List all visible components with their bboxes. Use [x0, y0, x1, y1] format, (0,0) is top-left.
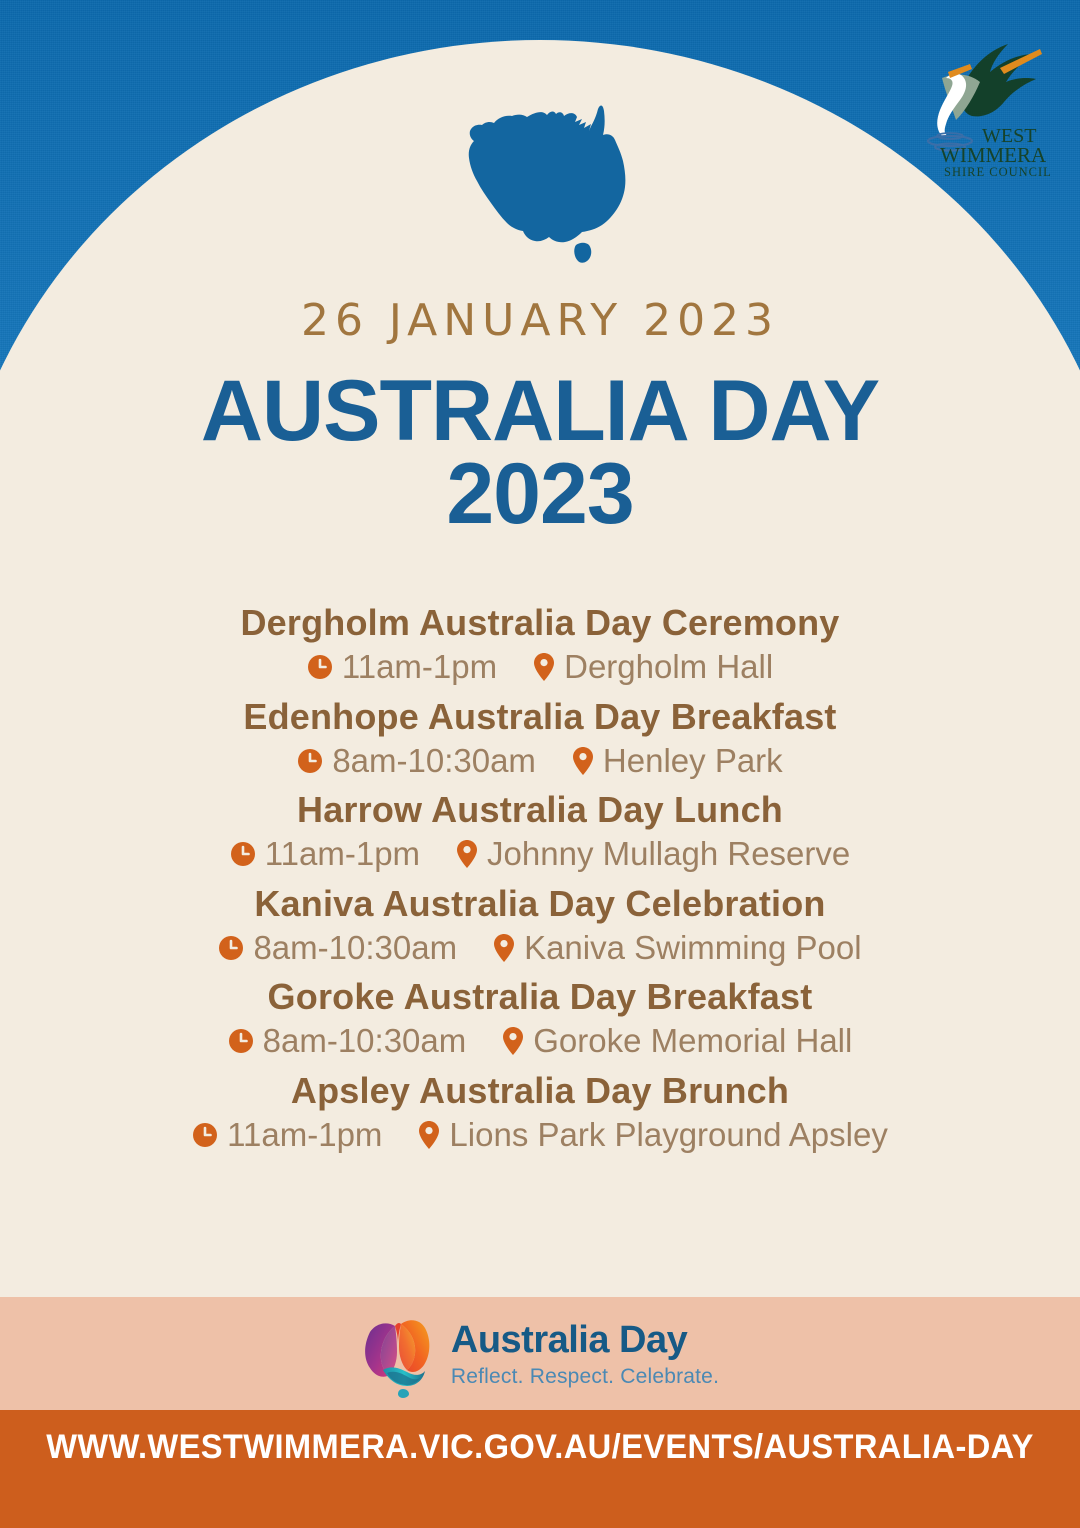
- page-title-line1: AUSTRALIA DAY: [201, 363, 879, 459]
- map-pin-icon: [418, 1120, 440, 1150]
- west-wimmera-shire-council-logo: WEST WIMMERA SHIRE COUNCIL: [912, 24, 1062, 184]
- clock-icon: [218, 935, 244, 961]
- event-location-group: Johnny Mullagh Reserve: [456, 832, 850, 877]
- event-time-group: 11am-1pm: [307, 645, 497, 690]
- australia-day-ribbon-logo: [361, 1310, 435, 1398]
- page-title-line2: 2023: [0, 453, 1080, 536]
- australia-mainland-shape: [469, 105, 626, 242]
- australia-map-icon: [455, 95, 645, 275]
- australia-day-logo-name: Australia Day: [451, 1321, 719, 1359]
- event-location: Lions Park Playground Apsley: [449, 1113, 887, 1158]
- logo-tasmania-droplet: [398, 1389, 409, 1398]
- event-detail: 8am-10:30amGoroke Memorial Hall: [0, 1019, 1080, 1064]
- event-item: Harrow Australia Day Lunch11am-1pmJohnny…: [0, 787, 1080, 877]
- event-detail: 11am-1pmDergholm Hall: [0, 645, 1080, 690]
- event-item: Apsley Australia Day Brunch11am-1pmLions…: [0, 1068, 1080, 1158]
- clock-icon: [192, 1122, 218, 1148]
- website-url-bar[interactable]: WWW.WESTWIMMERA.VIC.GOV.AU/EVENTS/AUSTRA…: [0, 1410, 1080, 1528]
- event-time: 8am-10:30am: [263, 1019, 467, 1064]
- clock-icon: [230, 841, 256, 867]
- event-location: Kaniva Swimming Pool: [524, 926, 861, 971]
- website-url[interactable]: WWW.WESTWIMMERA.VIC.GOV.AU/EVENTS/AUSTRA…: [22, 1428, 1059, 1467]
- event-time: 8am-10:30am: [332, 739, 536, 784]
- events-list: Dergholm Australia Day Ceremony11am-1pmD…: [0, 600, 1080, 1161]
- event-location-group: Henley Park: [572, 739, 783, 784]
- event-time: 11am-1pm: [265, 832, 420, 877]
- event-item: Dergholm Australia Day Ceremony11am-1pmD…: [0, 600, 1080, 690]
- event-detail: 8am-10:30amHenley Park: [0, 739, 1080, 784]
- tasmania-shape: [574, 243, 591, 263]
- event-time-group: 8am-10:30am: [297, 739, 536, 784]
- event-time: 11am-1pm: [227, 1113, 382, 1158]
- event-date: 26 JANUARY 2023: [0, 295, 1080, 346]
- event-location-group: Kaniva Swimming Pool: [493, 926, 861, 971]
- event-location: Henley Park: [603, 739, 783, 784]
- event-time-group: 8am-10:30am: [228, 1019, 467, 1064]
- australia-day-logo-band: Australia Day Reflect. Respect. Celebrat…: [0, 1297, 1080, 1410]
- event-item: Kaniva Australia Day Celebration8am-10:3…: [0, 881, 1080, 971]
- map-pin-icon: [456, 839, 478, 869]
- event-title: Harrow Australia Day Lunch: [0, 787, 1080, 832]
- map-pin-icon: [572, 746, 594, 776]
- event-title: Kaniva Australia Day Celebration: [0, 881, 1080, 926]
- page-title: AUSTRALIA DAY 2023: [0, 370, 1080, 535]
- map-pin-icon: [493, 933, 515, 963]
- event-time: 8am-10:30am: [253, 926, 457, 971]
- event-title: Apsley Australia Day Brunch: [0, 1068, 1080, 1113]
- event-title: Goroke Australia Day Breakfast: [0, 974, 1080, 1019]
- map-pin-icon: [533, 652, 555, 682]
- event-detail: 8am-10:30amKaniva Swimming Pool: [0, 926, 1080, 971]
- clock-icon: [297, 748, 323, 774]
- event-location-group: Lions Park Playground Apsley: [418, 1113, 887, 1158]
- event-time-group: 11am-1pm: [230, 832, 420, 877]
- event-detail: 11am-1pmLions Park Playground Apsley: [0, 1113, 1080, 1158]
- event-time-group: 8am-10:30am: [218, 926, 457, 971]
- event-item: Goroke Australia Day Breakfast8am-10:30a…: [0, 974, 1080, 1064]
- australia-day-wordmark: Australia Day Reflect. Respect. Celebrat…: [451, 1321, 719, 1387]
- event-detail: 11am-1pmJohnny Mullagh Reserve: [0, 832, 1080, 877]
- event-time: 11am-1pm: [342, 645, 497, 690]
- clock-icon: [228, 1028, 254, 1054]
- event-location-group: Dergholm Hall: [533, 645, 773, 690]
- event-title: Dergholm Australia Day Ceremony: [0, 600, 1080, 645]
- australia-day-logo-tagline: Reflect. Respect. Celebrate.: [451, 1366, 719, 1387]
- clock-icon: [307, 654, 333, 680]
- event-location: Johnny Mullagh Reserve: [487, 832, 850, 877]
- event-time-group: 11am-1pm: [192, 1113, 382, 1158]
- australia-day-poster: WEST WIMMERA SHIRE COUNCIL 26 JANUARY 20…: [0, 0, 1080, 1528]
- event-location-group: Goroke Memorial Hall: [502, 1019, 852, 1064]
- event-location: Dergholm Hall: [564, 645, 773, 690]
- event-location: Goroke Memorial Hall: [533, 1019, 852, 1064]
- event-item: Edenhope Australia Day Breakfast8am-10:3…: [0, 694, 1080, 784]
- council-logo-line3: SHIRE COUNCIL: [944, 165, 1052, 179]
- map-pin-icon: [502, 1026, 524, 1056]
- event-title: Edenhope Australia Day Breakfast: [0, 694, 1080, 739]
- council-logo-line2: WIMMERA: [940, 143, 1047, 167]
